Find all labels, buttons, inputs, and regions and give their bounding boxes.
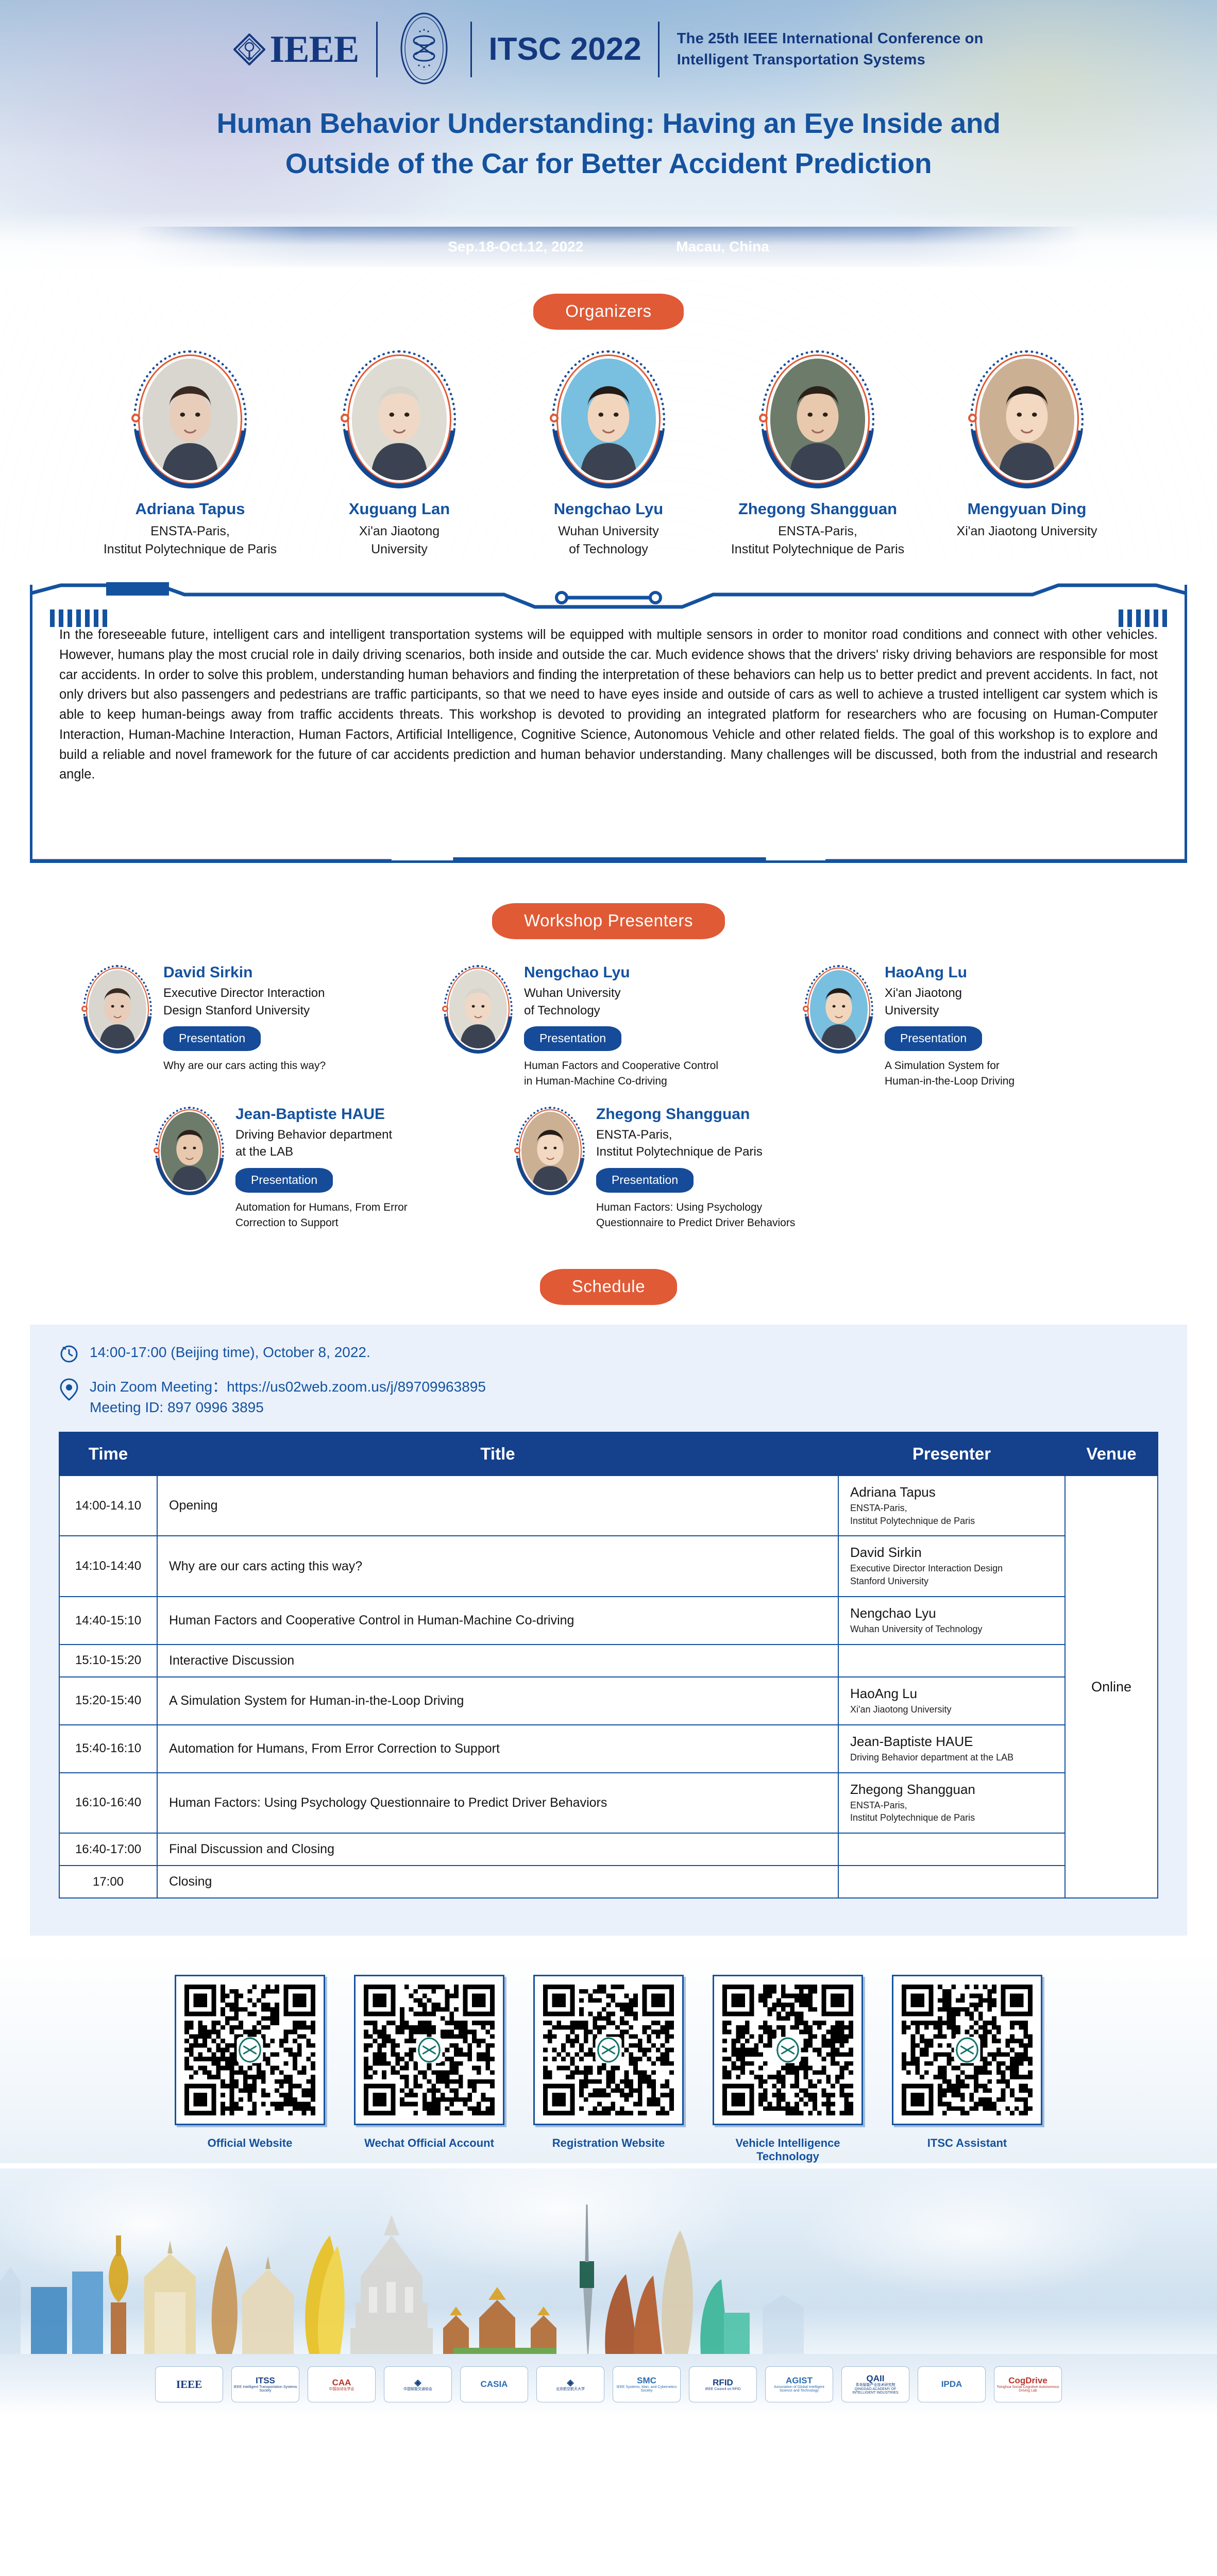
presenter-affiliation: Xi'an JiaotongUniversity (885, 985, 1015, 1019)
qr-codes-row: Official Website Wechat Official Account… (0, 1975, 1217, 2163)
cell-presenter: HaoAng Lu Xi'an Jiaotong University (838, 1677, 1065, 1725)
organizer-affiliation: ENSTA-Paris,Institut Polytechnique de Pa… (727, 522, 908, 558)
qr-code-image[interactable] (354, 1975, 504, 2125)
schedule-panel: 14:00-17:00 (Beijing time), October 8, 2… (30, 1325, 1187, 1936)
cell-title: Automation for Humans, From Error Correc… (157, 1725, 838, 1773)
organizer-affiliation: Wuhan Universityof Technology (518, 522, 699, 558)
avatar-accent-dot (442, 1006, 448, 1012)
qr-code-label: Wechat Official Account (354, 2137, 504, 2150)
organizer-name: Nengchao Lyu (518, 500, 699, 518)
qr-code-image[interactable] (175, 1975, 325, 2125)
cell-time: 15:20-15:40 (59, 1677, 157, 1725)
presenter-info: HaoAng Lu Xi'an JiaotongUniversity Prese… (885, 962, 1015, 1089)
presenters-row-2: Jean-Baptiste HAUE Driving Behavior depa… (0, 1104, 1217, 1231)
itss-seal-icon (378, 10, 470, 90)
presenter-card: HaoAng Lu Xi'an JiaotongUniversity Prese… (804, 962, 1134, 1089)
table-row: 15:20-15:40 A Simulation System for Huma… (59, 1677, 1158, 1725)
zoom-link-line[interactable]: Join Zoom Meeting：https://us02web.zoom.u… (90, 1379, 486, 1395)
page-title-line1: Human Behavior Understanding: Having an … (0, 103, 1217, 143)
table-row: 14:00-14.10 Opening Adriana Tapus ENSTA-… (59, 1476, 1158, 1536)
organizers-list: Adriana Tapus ENSTA-Paris,Institut Polyt… (0, 350, 1217, 558)
avatar (343, 350, 456, 488)
presenter-card: Jean-Baptiste HAUE Driving Behavior depa… (155, 1104, 485, 1231)
abstract-tick-marks-right (1119, 609, 1167, 627)
presenter-name: Jean-Baptiste HAUE (235, 1106, 408, 1123)
table-row: 14:40-15:10 Human Factors and Cooperativ… (59, 1597, 1158, 1645)
ieee-diamond-icon (233, 33, 265, 65)
qr-code-image[interactable] (892, 1975, 1042, 2125)
presenter-avatar-wrap (804, 962, 873, 1054)
presenter-talk-title: Automation for Humans, From ErrorCorrect… (235, 1200, 408, 1231)
schedule-zoom-line: Join Zoom Meeting：https://us02web.zoom.u… (59, 1377, 1158, 1418)
presenter-affiliation: Wuhan Universityof Technology (524, 985, 718, 1019)
cell-title: Final Discussion and Closing (157, 1833, 838, 1866)
organizer-affiliation: Xi'an JiaotongUniversity (309, 522, 490, 558)
cell-presenter-name: HaoAng Lu (850, 1686, 1053, 1702)
presentation-button[interactable]: Presentation (235, 1168, 333, 1193)
ieee-wordmark: IEEE (269, 30, 359, 69)
presenter-avatar-wrap (155, 1104, 224, 1195)
cell-presenter-name: Adriana Tapus (850, 1484, 1053, 1500)
itsc-wordmark: ITSC 2022 (472, 33, 657, 65)
schedule-zoom-text: Join Zoom Meeting：https://us02web.zoom.u… (90, 1377, 486, 1418)
presenter-info: Zhegong Shangguan ENSTA-Paris,Institut P… (596, 1104, 795, 1231)
cell-time: 14:00-14.10 (59, 1476, 157, 1536)
sponsor-logos-footer: IEEE ITSSIEEE Intelligent Transportation… (0, 2354, 1217, 2415)
cell-presenter (838, 1645, 1065, 1677)
schedule-time-text: 14:00-17:00 (Beijing time), October 8, 2… (90, 1342, 370, 1363)
cell-presenter-affiliation: Wuhan University of Technology (850, 1623, 1053, 1636)
sponsor-logo: SMCIEEE Systems, Man, and Cybernetics So… (613, 2366, 681, 2402)
presentation-button[interactable]: Presentation (596, 1168, 694, 1193)
abstract-bottom-decoration (32, 842, 1185, 863)
presenters-section: Workshop Presenters David Sirkin Executi… (0, 903, 1217, 1231)
organizer-affiliation: ENSTA-Paris,Institut Polytechnique de Pa… (99, 522, 281, 558)
avatar (444, 965, 513, 1054)
organizer-card: Zhegong Shangguan ENSTA-Paris,Institut P… (727, 350, 908, 558)
avatar (133, 350, 247, 488)
schedule-time-line: 14:00-17:00 (Beijing time), October 8, 2… (59, 1342, 1158, 1366)
presentation-button[interactable]: Presentation (524, 1026, 621, 1051)
presenters-heading-wrap: Workshop Presenters (0, 903, 1217, 939)
cell-presenter: Nengchao Lyu Wuhan University of Technol… (838, 1597, 1065, 1645)
cell-title: Human Factors: Using Psychology Question… (157, 1773, 838, 1834)
presenter-talk-title: Human Factors and Cooperative Controlin … (524, 1058, 718, 1089)
qr-code-image[interactable] (713, 1975, 863, 2125)
cell-presenter-affiliation: Xi'an Jiaotong University (850, 1703, 1053, 1716)
presenter-name: HaoAng Lu (885, 964, 1015, 981)
presenter-name: Zhegong Shangguan (596, 1106, 795, 1123)
qr-code-card: Official Website (175, 1975, 325, 2163)
cell-time: 15:10-15:20 (59, 1645, 157, 1677)
header-fade (0, 211, 1217, 273)
conference-poster: IEEE ITSC 2022 (0, 0, 1217, 2576)
presentation-button[interactable]: Presentation (885, 1026, 982, 1051)
cell-presenter: David Sirkin Executive Director Interact… (838, 1536, 1065, 1597)
presenter-card: David Sirkin Executive Director Interact… (83, 962, 413, 1074)
avatar (83, 965, 152, 1054)
organizers-heading-wrap: Organizers (0, 294, 1217, 330)
conference-name-line1: The 25th IEEE International Conference o… (677, 28, 984, 49)
qr-code-card: Registration Website (533, 1975, 684, 2163)
organizer-card: Xuguang Lan Xi'an JiaotongUniversity (309, 350, 490, 558)
organizer-name: Mengyuan Ding (936, 500, 1118, 518)
presenter-talk-title: A Simulation System forHuman-in-the-Loop… (885, 1058, 1015, 1089)
qr-code-card: Wechat Official Account (354, 1975, 504, 2163)
organizers-section: Organizers Adriana Tapus ENSTA-Paris,Ins… (0, 273, 1217, 558)
qr-code-label: Official Website (175, 2137, 325, 2150)
abstract-tick-marks-left (50, 609, 107, 627)
qr-code-label: Vehicle Intelligence Technology (713, 2137, 863, 2163)
avatar (804, 965, 873, 1054)
presenter-talk-title: Human Factors: Using PsychologyQuestionn… (596, 1200, 795, 1231)
skyline-buildings (0, 2184, 1217, 2354)
avatar (761, 350, 874, 488)
location-pin-icon (59, 1378, 79, 1404)
abstract-frame: In the foreseeable future, intelligent c… (30, 585, 1187, 863)
clock-icon (59, 1343, 79, 1366)
sponsor-logo: CogDriveTsinghua Social Cognitive Autono… (994, 2366, 1062, 2402)
presenter-avatar-wrap (444, 962, 513, 1054)
sponsor-logo: QAII青岛智能产业技术研究院QINGDAO ACADEMY OF INTELL… (841, 2366, 909, 2402)
avatar-accent-dot (514, 1147, 520, 1154)
zoom-meeting-id: Meeting ID: 897 0996 3895 (90, 1397, 486, 1418)
abstract-text: In the foreseeable future, intelligent c… (59, 625, 1158, 785)
column-header-time: Time (59, 1432, 157, 1476)
table-row: 16:40-17:00 Final Discussion and Closing (59, 1833, 1158, 1866)
qr-code-label: Registration Website (533, 2137, 684, 2150)
presenter-info: Jean-Baptiste HAUE Driving Behavior depa… (235, 1104, 408, 1231)
table-row: 17:00 Closing (59, 1866, 1158, 1898)
logo-row: IEEE ITSC 2022 (0, 19, 1217, 80)
page-title-line2: Outside of the Car for Better Accident P… (0, 143, 1217, 183)
avatar-accent-dot (154, 1147, 160, 1154)
cell-presenter-affiliation: ENSTA-Paris,Institut Polytechnique de Pa… (850, 1502, 1053, 1528)
organizer-name: Zhegong Shangguan (727, 500, 908, 518)
qr-code-image[interactable] (533, 1975, 684, 2125)
cell-title: Human Factors and Cooperative Control in… (157, 1597, 838, 1645)
cell-title: Why are our cars acting this way? (157, 1536, 838, 1597)
conference-name: The 25th IEEE International Conference o… (660, 28, 984, 71)
organizer-card: Adriana Tapus ENSTA-Paris,Institut Polyt… (99, 350, 281, 558)
column-header-venue: Venue (1065, 1432, 1158, 1476)
column-header-presenter: Presenter (838, 1432, 1065, 1476)
sponsor-logo: RFIDIEEE Council on RFID (689, 2366, 757, 2402)
poster-header: IEEE ITSC 2022 (0, 0, 1217, 273)
cell-time: 14:40-15:10 (59, 1597, 157, 1645)
cell-title: Interactive Discussion (157, 1645, 838, 1677)
column-header-title: Title (157, 1432, 838, 1476)
organizer-name: Adriana Tapus (99, 500, 281, 518)
sponsor-logo: IEEE (155, 2366, 223, 2402)
cell-time: 17:00 (59, 1866, 157, 1898)
organizer-card: Nengchao Lyu Wuhan Universityof Technolo… (518, 350, 699, 558)
cell-presenter-affiliation: ENSTA-Paris,Institut Polytechnique de Pa… (850, 1799, 1053, 1825)
cell-presenter (838, 1833, 1065, 1866)
ieee-logo: IEEE (233, 30, 376, 69)
presenter-card: Nengchao Lyu Wuhan Universityof Technolo… (444, 962, 773, 1089)
table-row: 14:10-14:40 Why are our cars acting this… (59, 1536, 1158, 1597)
avatar (516, 1107, 585, 1195)
cell-presenter (838, 1866, 1065, 1898)
cell-time: 14:10-14:40 (59, 1536, 157, 1597)
cell-venue: Online (1065, 1476, 1158, 1898)
section-heading-schedule: Schedule (540, 1269, 677, 1305)
cell-presenter: Zhegong Shangguan ENSTA-Paris,Institut P… (838, 1773, 1065, 1834)
qr-code-card: ITSC Assistant (892, 1975, 1042, 2163)
cell-presenter-name: David Sirkin (850, 1545, 1053, 1561)
schedule-section: Schedule 14:00-17:00 (Beijing time), Oct… (0, 1269, 1217, 1936)
presenter-name: David Sirkin (163, 964, 326, 981)
presenter-avatar-wrap (83, 962, 152, 1054)
sponsor-logo: ITSSIEEE Intelligent Transportation Syst… (231, 2366, 299, 2402)
table-row: 15:40-16:10 Automation for Humans, From … (59, 1725, 1158, 1773)
cell-title: Closing (157, 1866, 838, 1898)
page-title: Human Behavior Understanding: Having an … (0, 103, 1217, 183)
organizer-name: Xuguang Lan (309, 500, 490, 518)
cell-presenter-name: Zhegong Shangguan (850, 1782, 1053, 1798)
cell-presenter: Adriana Tapus ENSTA-Paris,Institut Polyt… (838, 1476, 1065, 1536)
cell-presenter-name: Nengchao Lyu (850, 1605, 1053, 1621)
cell-presenter-affiliation: Executive Director Interaction DesignSta… (850, 1562, 1053, 1588)
presenter-info: Nengchao Lyu Wuhan Universityof Technolo… (524, 962, 718, 1089)
avatar (155, 1107, 224, 1195)
sponsor-logo: AGISTAssociation of Global Intelligent S… (765, 2366, 833, 2402)
presenter-avatar-wrap (516, 1104, 585, 1195)
presenter-affiliation: Executive Director InteractionDesign Sta… (163, 985, 326, 1019)
section-heading-presenters: Workshop Presenters (492, 903, 725, 939)
avatar (552, 350, 665, 488)
presenter-affiliation: ENSTA-Paris,Institut Polytechnique de Pa… (596, 1126, 795, 1161)
sponsor-logo: CASIA (460, 2366, 528, 2402)
cell-time: 16:40-17:00 (59, 1833, 157, 1866)
cell-title: A Simulation System for Human-in-the-Loo… (157, 1677, 838, 1725)
schedule-heading-wrap: Schedule (0, 1269, 1217, 1305)
presenter-card: Zhegong Shangguan ENSTA-Paris,Institut P… (516, 1104, 846, 1231)
cell-presenter-name: Jean-Baptiste HAUE (850, 1734, 1053, 1750)
macau-skyline-illustration (0, 2168, 1217, 2354)
qr-codes-section: Official Website Wechat Official Account… (0, 1951, 1217, 2163)
sponsor-logo: ◈北京航空航天大学 (536, 2366, 604, 2402)
schedule-table-header-row: Time Title Presenter Venue (59, 1432, 1158, 1476)
table-row: 16:10-16:40 Human Factors: Using Psychol… (59, 1773, 1158, 1834)
section-heading-organizers: Organizers (533, 294, 683, 330)
sponsor-logo: ◈中国智能交通协会 (384, 2366, 452, 2402)
presentation-button[interactable]: Presentation (163, 1026, 261, 1051)
presenter-affiliation: Driving Behavior departmentat the LAB (235, 1126, 408, 1161)
presenters-row-1: David Sirkin Executive Director Interact… (0, 962, 1217, 1089)
conference-name-line2: Intelligent Transportation Systems (677, 49, 984, 71)
abstract-section: In the foreseeable future, intelligent c… (30, 585, 1187, 863)
cell-presenter-affiliation: Driving Behavior department at the LAB (850, 1751, 1053, 1764)
avatar-accent-dot (803, 1006, 809, 1012)
cell-presenter: Jean-Baptiste HAUE Driving Behavior depa… (838, 1725, 1065, 1773)
qr-code-card: Vehicle Intelligence Technology (713, 1975, 863, 2163)
presenter-info: David Sirkin Executive Director Interact… (163, 962, 326, 1074)
sponsor-logo: IPDA (918, 2366, 986, 2402)
presenter-name: Nengchao Lyu (524, 964, 718, 981)
avatar-accent-dot (81, 1006, 88, 1012)
organizer-card: Mengyuan Ding Xi'an Jiaotong University (936, 350, 1118, 540)
cell-title: Opening (157, 1476, 838, 1536)
avatar (970, 350, 1084, 488)
cell-time: 15:40-16:10 (59, 1725, 157, 1773)
schedule-table: Time Title Presenter Venue 14:00-14.10 O… (59, 1432, 1158, 1899)
cell-time: 16:10-16:40 (59, 1773, 157, 1834)
table-row: 15:10-15:20 Interactive Discussion (59, 1645, 1158, 1677)
organizer-affiliation: Xi'an Jiaotong University (936, 522, 1118, 540)
qr-code-label: ITSC Assistant (892, 2137, 1042, 2150)
presenter-talk-title: Why are our cars acting this way? (163, 1058, 326, 1074)
sponsor-logo: CAA中国自动化学会 (308, 2366, 376, 2402)
